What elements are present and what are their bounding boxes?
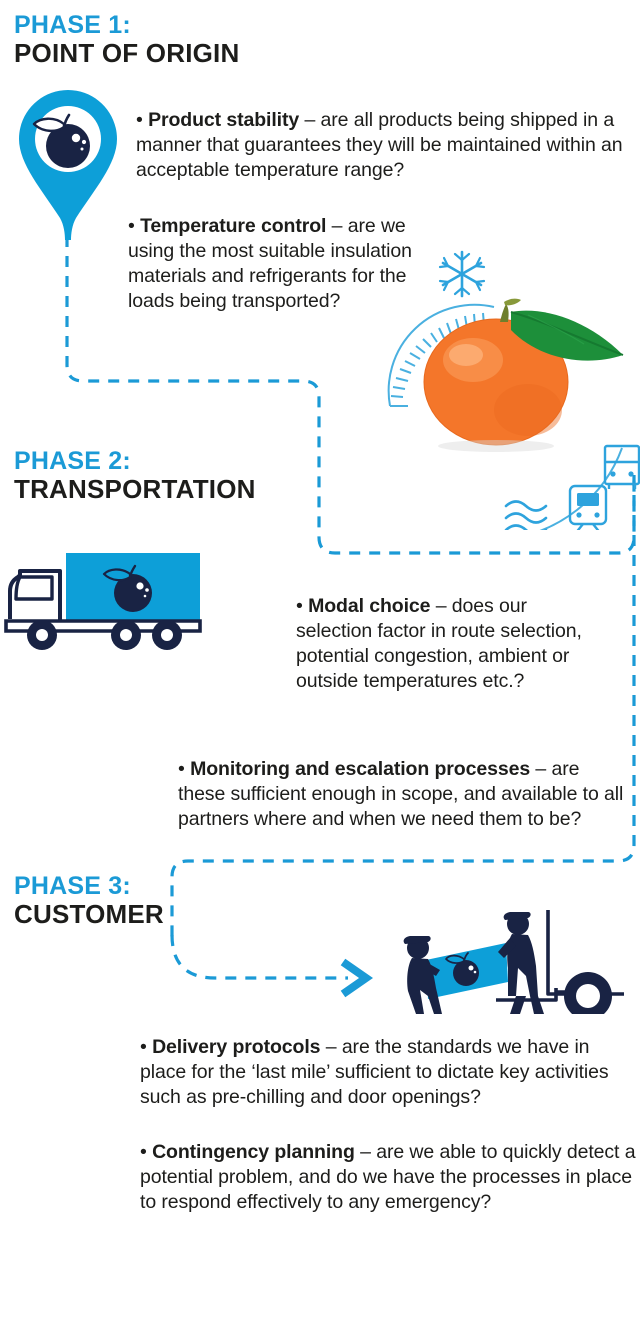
bullet-marker: • xyxy=(140,1036,147,1058)
map-pin-fruit-icon xyxy=(12,86,124,242)
train-front-icon xyxy=(566,486,610,530)
bullet-marker: • xyxy=(296,595,303,617)
tangerine-with-leaf-image xyxy=(424,299,623,452)
bullet-lead: Contingency planning xyxy=(152,1141,355,1163)
bullet-dash: – xyxy=(360,1141,371,1163)
worker-left xyxy=(404,936,442,1014)
bullet-dash: – xyxy=(436,595,447,617)
phase-2-heading: PHASE 2: TRANSPORTATION xyxy=(14,448,256,503)
phase-1-heading: PHASE 1: POINT OF ORIGIN xyxy=(14,12,239,67)
sea-waves-icon xyxy=(506,502,546,531)
bullet-dash: – xyxy=(535,758,546,780)
bullet-lead: Product stability xyxy=(148,109,299,131)
phase-3-bullet-1: • Delivery protocols – are the standards… xyxy=(140,1035,638,1110)
phase-2-bullet-1: • Modal choice – does our selection fact… xyxy=(296,594,608,694)
phase-2-kicker: PHASE 2: xyxy=(14,448,256,475)
phase-1-kicker: PHASE 1: xyxy=(14,12,239,39)
bullet-dash: – xyxy=(326,1036,337,1058)
phase-1-title: POINT OF ORIGIN xyxy=(14,39,239,67)
delivery-truck-icon xyxy=(2,545,234,657)
workers-unloading-icon xyxy=(378,896,640,1014)
infographic-canvas: PHASE 1: POINT OF ORIGIN • Product stabi… xyxy=(0,0,640,1319)
truck-front-icon xyxy=(605,446,639,489)
bullet-lead: Temperature control xyxy=(140,215,326,237)
snowflake-icon xyxy=(440,252,484,296)
phase-3-kicker: PHASE 3: xyxy=(14,873,164,900)
bullet-dash: – xyxy=(332,215,343,237)
bullet-lead: Delivery protocols xyxy=(152,1036,320,1058)
phase-3-title: CUSTOMER xyxy=(14,900,164,928)
phase-3-bullet-2: • Contingency planning – are we able to … xyxy=(140,1140,638,1215)
bullet-marker: • xyxy=(128,215,135,237)
phase-3-heading: PHASE 3: CUSTOMER xyxy=(14,873,164,928)
phase-1-bullet-1: • Product stability – are all products b… xyxy=(136,108,636,183)
bullet-marker: • xyxy=(136,109,143,131)
phase-2-title: TRANSPORTATION xyxy=(14,475,256,503)
phase-2-bullet-2: • Monitoring and escalation processes – … xyxy=(178,757,630,832)
bullet-dash: – xyxy=(304,109,315,131)
bullet-lead: Monitoring and escalation processes xyxy=(190,758,530,780)
bullet-marker: • xyxy=(178,758,185,780)
bullet-marker: • xyxy=(140,1141,147,1163)
phase-1-bullet-2: • Temperature control – are we using the… xyxy=(128,214,428,314)
bullet-lead: Modal choice xyxy=(308,595,430,617)
